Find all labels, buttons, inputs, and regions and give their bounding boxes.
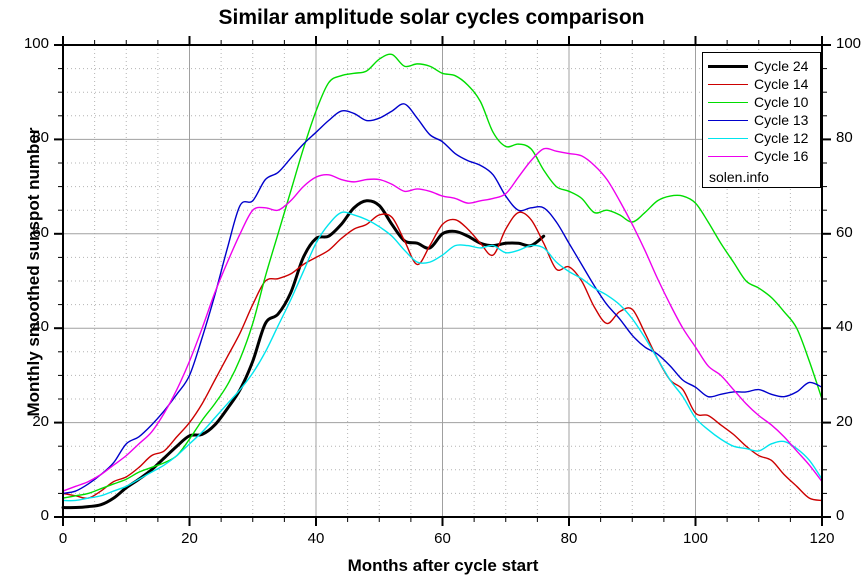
chart-figure: Similar amplitude solar cycles compariso…: [0, 0, 863, 584]
y-tick-label-left: 100: [0, 35, 49, 52]
legend-item-label: Cycle 10: [754, 93, 808, 111]
y-tick-label-right: 80: [836, 129, 863, 146]
legend-color-swatch: [708, 138, 748, 139]
legend-entries: Cycle 24Cycle 14Cycle 10Cycle 13Cycle 12…: [708, 57, 815, 165]
x-tick-label: 100: [671, 530, 721, 547]
legend-item: Cycle 13: [708, 111, 815, 129]
x-tick-label: 80: [544, 530, 594, 547]
x-tick-label: 60: [418, 530, 468, 547]
x-tick-label: 120: [797, 530, 847, 547]
x-tick-label: 0: [38, 530, 88, 547]
legend-item-label: Cycle 14: [754, 75, 808, 93]
legend-credit: solen.info: [708, 168, 815, 186]
y-tick-label-right: 20: [836, 413, 863, 430]
legend-item: Cycle 16: [708, 147, 815, 165]
y-tick-label-right: 40: [836, 318, 863, 335]
legend-item-label: Cycle 13: [754, 111, 808, 129]
legend-color-swatch: [708, 120, 748, 121]
legend-item: Cycle 24: [708, 57, 815, 75]
y-tick-label-left: 40: [0, 318, 49, 335]
x-tick-label: 20: [165, 530, 215, 547]
legend-item-label: Cycle 12: [754, 129, 808, 147]
legend-item: Cycle 10: [708, 93, 815, 111]
legend-color-swatch: [708, 84, 748, 85]
legend-item-label: Cycle 16: [754, 147, 808, 165]
chart-legend: Cycle 24Cycle 14Cycle 10Cycle 13Cycle 12…: [702, 52, 821, 188]
legend-color-swatch: [708, 156, 748, 157]
y-tick-label-left: 60: [0, 224, 49, 241]
legend-item: Cycle 12: [708, 129, 815, 147]
legend-color-swatch: [708, 102, 748, 103]
x-tick-label: 40: [291, 530, 341, 547]
legend-item-label: Cycle 24: [754, 57, 808, 75]
y-tick-label-right: 0: [836, 507, 863, 524]
y-tick-label-right: 60: [836, 224, 863, 241]
y-tick-label-left: 0: [0, 507, 49, 524]
legend-item: Cycle 14: [708, 75, 815, 93]
y-tick-label-left: 20: [0, 413, 49, 430]
y-tick-label-left: 80: [0, 129, 49, 146]
y-tick-label-right: 100: [836, 35, 863, 52]
legend-color-swatch: [708, 65, 748, 68]
